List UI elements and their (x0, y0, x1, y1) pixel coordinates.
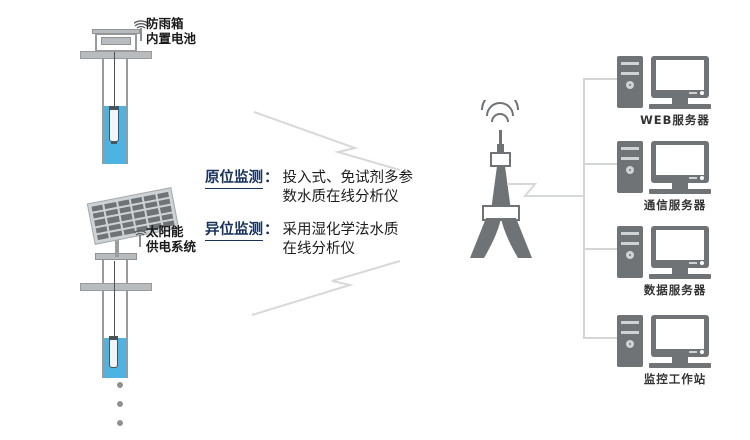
link-station-battery-tower (250, 90, 465, 180)
wifi-icon (474, 100, 526, 134)
mode-in-situ-heading: 原位监测 (205, 169, 263, 189)
mode-ex-situ-colon: ： (264, 221, 279, 240)
diagram-canvas: 防雨箱 内置电池 太阳能 供 (0, 0, 750, 440)
comm-server-label: 通信服务器 (615, 197, 735, 213)
probe-cable (114, 261, 115, 338)
mode-in-situ: 原位监测 ： 投入式、免试剂多参 数水质在线分析仪 (205, 169, 440, 207)
station-solar-label: 太阳能 供电系统 (146, 224, 196, 254)
vertical-ellipsis (117, 382, 123, 439)
monitor-station-label: 监控工作站 (615, 371, 735, 387)
mode-in-situ-body: 投入式、免试剂多参 数水质在线分析仪 (283, 169, 414, 207)
tower-legs (464, 218, 538, 260)
water-quality-probe (109, 108, 119, 142)
probe-cable (114, 52, 115, 108)
rainproof-box-lid (92, 29, 140, 34)
probe-cap (109, 336, 118, 340)
probe-tip (111, 141, 117, 144)
data-server[interactable]: 数据服务器 (615, 220, 735, 295)
mode-ex-situ-heading: 异位监测 (205, 221, 263, 241)
web-server[interactable]: WEB服务器 (615, 50, 735, 125)
data-server-label: 数据服务器 (615, 282, 735, 298)
branch-web-server (583, 78, 617, 80)
wellhead-slab (80, 283, 152, 291)
branch-data-server (583, 248, 617, 250)
transmission-tower (452, 100, 552, 250)
probe-cap (109, 106, 119, 110)
monitoring-modes: 原位监测 ： 投入式、免试剂多参 数水质在线分析仪 异位监测 ： 采用湿化学法水… (205, 169, 440, 273)
water-quality-probe (109, 338, 118, 368)
link-tower-servers (505, 178, 585, 208)
mode-in-situ-colon: ： (264, 169, 279, 188)
station-battery-label: 防雨箱 内置电池 (146, 16, 196, 46)
rainproof-box-fill (101, 37, 131, 45)
wellhead-slab (80, 51, 152, 59)
comm-server[interactable]: 通信服务器 (615, 135, 735, 210)
branch-comm-server (583, 163, 617, 165)
monitor-station[interactable]: 监控工作站 (615, 309, 735, 384)
tower-upper-box (490, 152, 511, 167)
branch-monitor-station (583, 337, 617, 339)
mode-ex-situ: 异位监测 ： 采用湿化学法水质 在线分析仪 (205, 221, 440, 259)
server-bus-trunk (583, 78, 585, 338)
web-server-label: WEB服务器 (615, 112, 735, 128)
mode-ex-situ-body: 采用湿化学法水质 在线分析仪 (283, 221, 399, 259)
